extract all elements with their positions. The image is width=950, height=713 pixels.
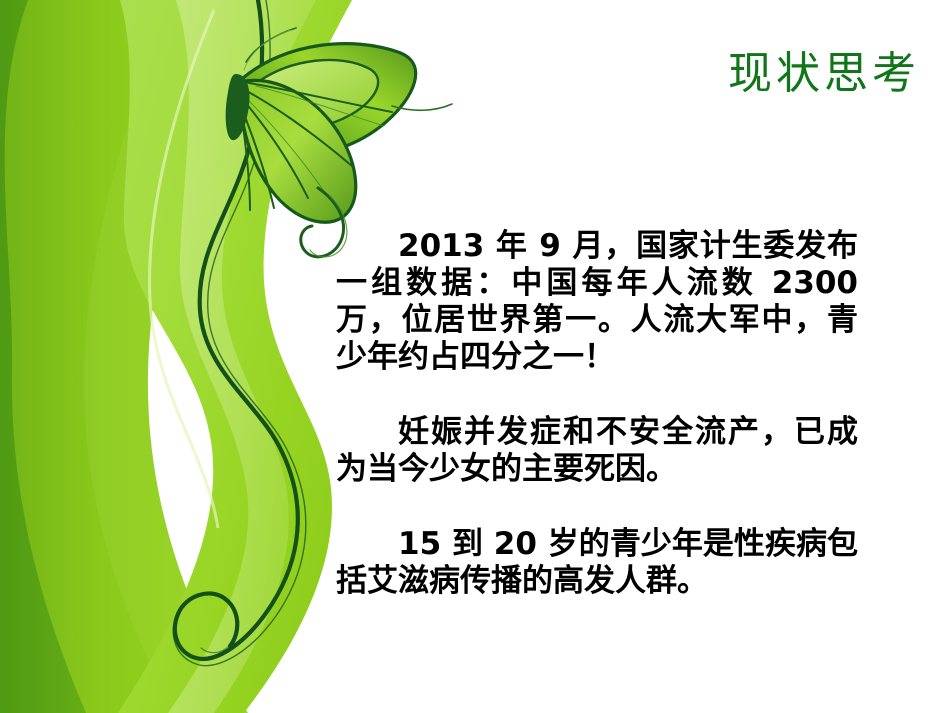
- paragraph-2: 妊娠并发症和不安全流产，已成为当今少女的主要死因。: [336, 414, 858, 488]
- body-content: 2013 年 9 月，国家计生委发布一组数据：中国每年人流数 2300 万，位居…: [336, 228, 858, 600]
- page-title: 现状思考: [560, 48, 920, 100]
- spiral-curl-ornament: [173, 0, 305, 666]
- paragraph-1: 2013 年 9 月，国家计生委发布一组数据：中国每年人流数 2300 万，位居…: [336, 228, 858, 376]
- green-swoosh-shape: [0, 0, 352, 713]
- paragraph-3: 15 到 20 岁的青少年是性疾病包括艾滋病传播的高发人群。: [336, 526, 858, 600]
- slide-canvas: 现状思考 2013 年 9 月，国家计生委发布一组数据：中国每年人流数 2300…: [0, 0, 950, 713]
- leaf-butterfly-ornament: [226, 28, 452, 257]
